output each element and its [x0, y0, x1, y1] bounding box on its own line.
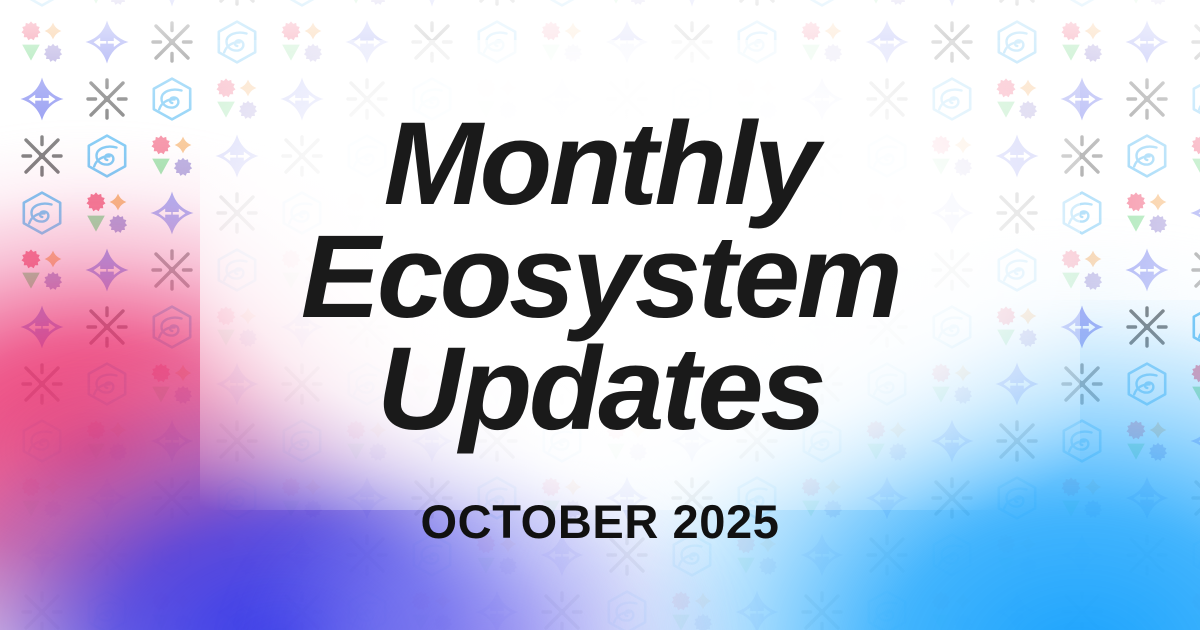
page-title: Monthly Ecosystem Updates — [0, 0, 1200, 446]
title-line-1: Monthly — [0, 108, 1200, 221]
title-line-2: Ecosystem — [0, 221, 1200, 334]
ecosystem-updates-banner: Monthly Ecosystem Updates OCTOBER 2025 — [0, 0, 1200, 630]
title-line-3: Updates — [0, 333, 1200, 446]
subtitle-date: OCTOBER 2025 — [0, 494, 1200, 549]
banner-text-block: Monthly Ecosystem Updates OCTOBER 2025 — [0, 0, 1200, 630]
